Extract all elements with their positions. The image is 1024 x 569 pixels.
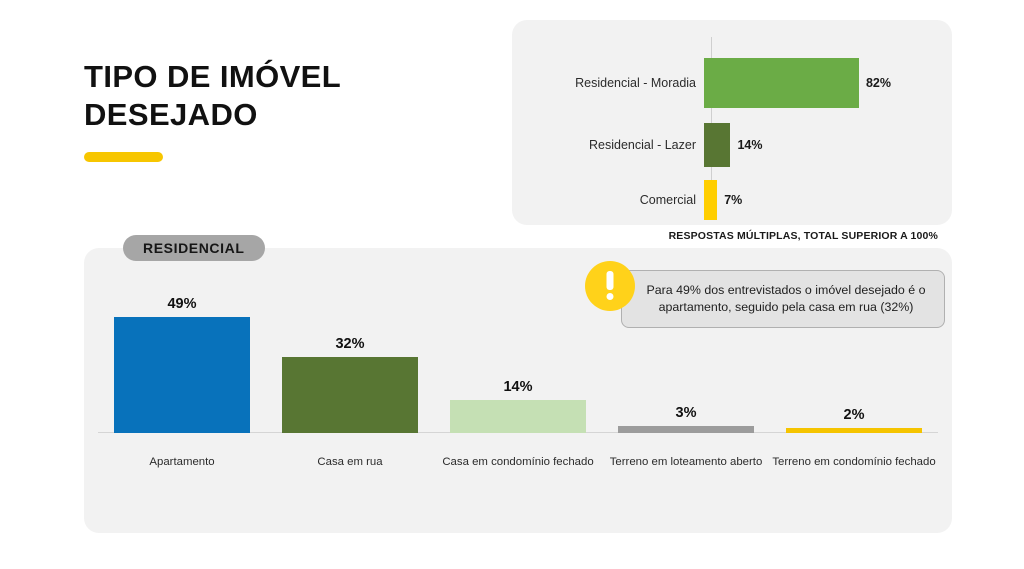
bar-row: Residencial - Lazer14% (512, 123, 952, 167)
page-title-line-2: DESEJADO (84, 96, 484, 134)
exclamation-dot (607, 293, 614, 300)
residencial-chart-card: RESIDENCIAL Para 49% dos entrevistados o… (84, 248, 952, 533)
title-accent-underline (84, 152, 163, 162)
bar-value-label: 2% (770, 407, 938, 423)
bar (786, 428, 922, 433)
bar-value-label: 49% (98, 296, 266, 312)
page-title: TIPO DE IMÓVEL DESEJADO (84, 58, 484, 162)
bar-category-label: Terreno em loteamento aberto (602, 456, 770, 470)
residencial-badge: RESIDENCIAL (123, 235, 265, 261)
slide-root: TIPO DE IMÓVEL DESEJADO Residencial - Mo… (0, 0, 1024, 569)
bar-column: 2%Terreno em condomínio fechado (770, 303, 938, 478)
bar-column: 49%Apartamento (98, 303, 266, 478)
bar-track: 7% (704, 180, 952, 220)
bar (114, 317, 250, 433)
bar-category-label: Comercial (512, 193, 704, 208)
bar-row: Residencial - Moradia82% (512, 58, 952, 108)
bar-value-label: 14% (737, 138, 762, 152)
bar-column: 32%Casa em rua (266, 303, 434, 478)
bar-column: 3%Terreno em loteamento aberto (602, 303, 770, 478)
page-title-line-1: TIPO DE IMÓVEL (84, 58, 484, 96)
bar-track: 82% (704, 58, 952, 108)
bar (618, 426, 754, 433)
bar (450, 400, 586, 433)
bar-track: 14% (704, 123, 952, 167)
bar (704, 180, 717, 220)
residencial-chart: 49%Apartamento32%Casa em rua14%Casa em c… (98, 303, 938, 478)
exclamation-stem (607, 271, 614, 290)
bar-row: Comercial7% (512, 180, 952, 220)
tipo-imovel-chart-card: Residencial - Moradia82%Residencial - La… (512, 20, 952, 225)
bar-category-label: Residencial - Moradia (512, 76, 704, 91)
bar-column: 14%Casa em condomínio fechado (434, 303, 602, 478)
bar-category-label: Terreno em condomínio fechado (770, 456, 938, 470)
bar-category-label: Casa em condomínio fechado (434, 456, 602, 470)
exclamation-icon (585, 261, 635, 311)
chart-footnote: RESPOSTAS MÚLTIPLAS, TOTAL SUPERIOR A 10… (512, 230, 952, 242)
bar-category-label: Apartamento (98, 456, 266, 470)
bar-value-label: 3% (602, 405, 770, 421)
bar-value-label: 7% (724, 193, 742, 207)
bar-value-label: 32% (266, 336, 434, 352)
bar-value-label: 82% (866, 76, 891, 90)
bar-category-label: Casa em rua (266, 456, 434, 470)
bar-value-label: 14% (434, 379, 602, 395)
tipo-imovel-chart: Residencial - Moradia82%Residencial - La… (512, 20, 952, 225)
bar (704, 123, 730, 167)
bar (704, 58, 859, 108)
bar (282, 357, 418, 433)
bar-category-label: Residencial - Lazer (512, 138, 704, 153)
